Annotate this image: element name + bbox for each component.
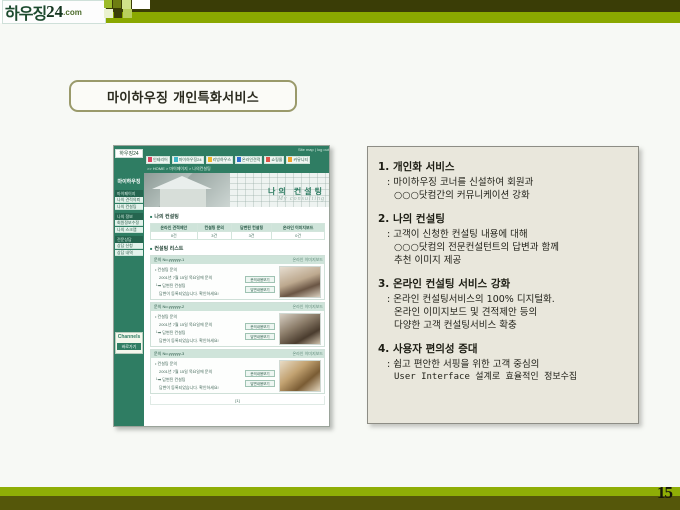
item-number: 2. [378, 213, 389, 225]
table-cell: 3건 [197, 232, 231, 240]
web-sidebar-group: 나의 정보 [115, 213, 143, 220]
table-header-cell: 답변된 컨설팅 [231, 224, 271, 232]
card-line-3: └➡ 답변된 컨설팅 [155, 283, 186, 289]
item-number: 1. [378, 161, 389, 173]
nav-item-community[interactable]: 커뮤니티 [286, 156, 310, 164]
table-header-cell: 온라인 이미지보드 [272, 224, 325, 232]
web-hero-banner: 나의 컨설팅 My consulting [144, 173, 330, 207]
nav-bullet-icon [148, 157, 152, 162]
table-cell: 0건 [151, 232, 198, 240]
card-line-3: └➡ 답변된 컨설팅 [155, 330, 186, 336]
website-screenshot: 하우징24 마이하우징 마이페이지 나의 견적의뢰 나의 컨설팅 나의 정보 회… [113, 145, 330, 427]
item-line: ○○○닷컴의 전문컨설턴트의 답변과 함께 [378, 241, 630, 254]
card-header-no: 문의 No.yyyyyy-2 [154, 304, 184, 309]
hero-house-photo [144, 173, 230, 207]
web-sidebar-item[interactable]: 상담 신청 [115, 243, 143, 249]
checker-square [104, 9, 113, 18]
nav-item-label: 쇼핑몰 [271, 156, 282, 163]
view-answer-button[interactable]: 답변내용보기 [245, 286, 275, 293]
item-heading: 1. 개인화 서비스 [378, 159, 630, 174]
card-line-4: 답변이 등록되었습니다. 확인하세요! [159, 385, 219, 391]
consulting-card: 온라인 이미지보드 문의 No.yyyyyy-1 • 컨설팅 문의 2001년 … [150, 255, 325, 300]
card-header-right: 온라인 이미지보드 [292, 303, 323, 311]
item-title: 온라인 컨설팅 서비스 강화 [393, 278, 510, 290]
page-title: 마이하우징 개인특화서비스 [107, 87, 259, 106]
item-title: 나의 컨설팅 [393, 213, 445, 225]
nav-item-livinghouse[interactable]: 리빙하우스 [206, 156, 233, 164]
checker-square [132, 0, 150, 9]
brand-logo-tld: .com [63, 8, 82, 17]
card-line-1: • 컨설팅 문의 [155, 314, 177, 320]
card-line-1: • 컨설팅 문의 [155, 267, 177, 273]
table-header-row: 온라인 견적제안 컨설팅 문의 답변된 컨설팅 온라인 이미지보드 [151, 224, 325, 232]
description-item-3: 3. 온라인 컨설팅 서비스 강화 : 온라인 컨설팅서비스의 100% 디지털… [378, 276, 630, 332]
web-utility-links[interactable]: Site map | log out [298, 147, 329, 152]
nav-item-myhousing[interactable]: 마이하우징24 [172, 156, 204, 164]
nav-item-label: 인테리어 [153, 156, 168, 163]
item-heading: 2. 나의 컨설팅 [378, 211, 630, 226]
brand-logo: 하우징24.com [2, 0, 106, 24]
item-title: 사용자 편의성 증대 [393, 343, 478, 355]
nav-bullet-icon [174, 157, 178, 162]
web-content: Site map | log out 인테리어 마이하우징24 리빙하우스 [144, 146, 330, 427]
pagination[interactable]: [1] [150, 396, 325, 405]
card-header: 온라인 이미지보드 문의 No.yyyyyy-2 [151, 303, 325, 311]
brand-logo-korean: 하우징 [3, 0, 46, 24]
channels-title: Channels [116, 333, 142, 342]
hero-roof-shape [152, 176, 212, 189]
description-item-2: 2. 나의 컨설팅 : 고객이 신청한 컨설팅 내용에 대해 ○○○닷컴의 전문… [378, 211, 630, 267]
web-sidebar-logo: 하우징24 [115, 149, 143, 158]
web-sidebar-group: 마이페이지 [115, 190, 143, 197]
web-sidebar: 하우징24 마이하우징 마이페이지 나의 견적의뢰 나의 컨설팅 나의 정보 회… [114, 146, 144, 427]
checker-square [113, 0, 121, 8]
checker-decoration [104, 0, 150, 23]
nav-item-label: 마이하우징24 [179, 156, 202, 163]
web-sidebar-group: 전문상담 [115, 236, 143, 243]
hero-subtitle: My consulting [278, 196, 325, 202]
nav-item-label: 커뮤니티 [293, 156, 308, 163]
view-answer-button[interactable]: 답변내용보기 [245, 380, 275, 387]
nav-item-label: 온라인견적 [242, 156, 260, 163]
web-sidebar-channels: Channels 바로가기 [115, 332, 143, 354]
item-line: : 온라인 컨설팅서비스의 100% 디지털화. [378, 293, 630, 306]
view-inquiry-button[interactable]: 문의내용보기 [245, 276, 275, 283]
table-header-cell: 온라인 견적제안 [151, 224, 198, 232]
nav-bullet-icon [288, 157, 292, 162]
item-line: : 쉽고 편안한 서핑을 위한 고객 중심의 [378, 358, 630, 371]
section-heading-my-consulting: 나의 컨설팅 [150, 213, 179, 220]
item-line: User Interface 설계로 효율적인 정보수집 [378, 371, 630, 384]
consulting-summary-table: 온라인 견적제안 컨설팅 문의 답변된 컨설팅 온라인 이미지보드 0건 3건 … [150, 223, 325, 240]
bottom-band-light [0, 487, 680, 496]
card-thumbnail[interactable] [279, 313, 321, 345]
item-number: 4. [378, 343, 389, 355]
card-header: 온라인 이미지보드 문의 No.yyyyyy-1 [151, 256, 325, 264]
card-header-right: 온라인 이미지보드 [292, 256, 323, 264]
slide-title-box: 마이하우징 개인특화서비스 [69, 80, 297, 112]
checker-square [123, 9, 132, 18]
consulting-card: 온라인 이미지보드 문의 No.yyyyyy-3 • 컨설팅 문의 2001년 … [150, 349, 325, 394]
section-heading-consulting-list: 컨설팅 리스트 [150, 245, 183, 252]
item-line: ○○○닷컴간의 커뮤니케이션 강화 [378, 189, 630, 202]
card-thumbnail[interactable] [279, 266, 321, 298]
description-panel: 1. 개인화 서비스 : 마이하우징 코너를 신설하여 회원과 ○○○닷컴간의 … [367, 146, 639, 424]
description-list: 1. 개인화 서비스 : 마이하우징 코너를 신설하여 회원과 ○○○닷컴간의 … [368, 147, 638, 384]
channels-button[interactable]: 바로가기 [117, 343, 141, 350]
nav-item-interior[interactable]: 인테리어 [146, 156, 170, 164]
nav-bullet-icon [208, 157, 212, 162]
table-cell: 0건 [272, 232, 325, 240]
card-line-2: 2001년 7월 15일 목요일에 문의 [159, 369, 212, 375]
hero-wall-shape [160, 189, 206, 207]
card-line-3: └➡ 답변된 컨설팅 [155, 377, 186, 383]
view-inquiry-button[interactable]: 문의내용보기 [245, 323, 275, 330]
web-topbar: Site map | log out [144, 146, 330, 154]
card-line-4: 답변이 등록되었습니다. 확인하세요! [159, 338, 219, 344]
card-line-2: 2001년 7월 15일 목요일에 문의 [159, 322, 212, 328]
card-thumbnail[interactable] [279, 360, 321, 392]
item-line: 다양한 고객 컨설팅서비스 확충 [378, 319, 630, 332]
checker-square [104, 0, 112, 8]
item-line: : 마이하우징 코너를 신설하여 회원과 [378, 176, 630, 189]
card-line-2: 2001년 7월 15일 목요일에 문의 [159, 275, 212, 281]
bottom-band-dark [0, 496, 680, 510]
web-sidebar-item[interactable]: 나의 스크랩 [115, 227, 143, 233]
nav-bullet-icon [237, 157, 241, 162]
view-inquiry-button[interactable]: 문의내용보기 [245, 370, 275, 377]
card-header-no: 문의 No.yyyyyy-3 [154, 351, 184, 356]
item-line: 온라인 이미지보드 및 견적제안 등의 [378, 306, 630, 319]
web-sidebar-item[interactable]: 나의 컨설팅 [115, 204, 143, 210]
card-line-1: • 컨설팅 문의 [155, 361, 177, 367]
page-number: 15 [657, 483, 672, 503]
nav-item-onlinequote[interactable]: 온라인견적 [235, 156, 262, 164]
description-item-4: 4. 사용자 편의성 증대 : 쉽고 편안한 서핑을 위한 고객 중심의 Use… [378, 341, 630, 384]
item-line: 추천 이미지 제공 [378, 254, 630, 267]
web-sidebar-item[interactable]: 회원정보수정 [115, 220, 143, 226]
nav-bullet-icon [266, 157, 270, 162]
web-sidebar-item[interactable]: 나의 견적의뢰 [115, 197, 143, 203]
consulting-card: 온라인 이미지보드 문의 No.yyyyyy-2 • 컨설팅 문의 2001년 … [150, 302, 325, 347]
checker-square [122, 0, 131, 9]
web-global-nav: 인테리어 마이하우징24 리빙하우스 온라인견적 쇼핑몰 [144, 154, 330, 165]
item-number: 3. [378, 278, 389, 290]
nav-item-shop[interactable]: 쇼핑몰 [264, 156, 284, 164]
brand-logo-number: 24 [46, 2, 63, 22]
web-breadcrumb: >> HOME > 마이페이지 > 나의컨설팅 [144, 165, 330, 173]
card-line-4: 답변이 등록되었습니다. 확인하세요! [159, 291, 219, 297]
slide-canvas: 하우징24.com 마이하우징 개인특화서비스 하우징24 마이하우징 마이페이… [0, 0, 680, 510]
card-header-no: 문의 No.yyyyyy-1 [154, 257, 184, 262]
table-header-cell: 컨설팅 문의 [197, 224, 231, 232]
view-answer-button[interactable]: 답변내용보기 [245, 333, 275, 340]
item-heading: 4. 사용자 편의성 증대 [378, 341, 630, 356]
web-sidebar-title: 마이하우징 [115, 178, 143, 185]
card-header: 온라인 이미지보드 문의 No.yyyyyy-3 [151, 350, 325, 358]
checker-square [114, 9, 122, 18]
card-header-right: 온라인 이미지보드 [292, 350, 323, 358]
description-item-1: 1. 개인화 서비스 : 마이하우징 코너를 신설하여 회원과 ○○○닷컴간의 … [378, 159, 630, 202]
item-line: : 고객이 신청한 컨설팅 내용에 대해 [378, 228, 630, 241]
nav-item-label: 리빙하우스 [213, 156, 231, 163]
table-row: 0건 3건 3건 0건 [151, 232, 325, 240]
web-sidebar-item[interactable]: 상담 내역 [115, 250, 143, 256]
table-cell: 3건 [231, 232, 271, 240]
item-heading: 3. 온라인 컨설팅 서비스 강화 [378, 276, 630, 291]
item-title: 개인화 서비스 [393, 161, 455, 173]
